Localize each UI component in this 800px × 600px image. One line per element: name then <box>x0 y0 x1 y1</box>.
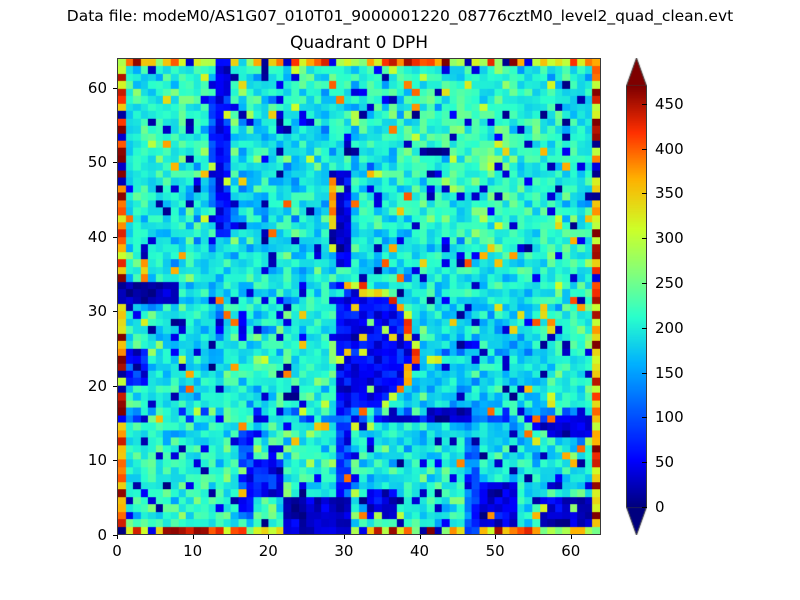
x-tick-label: 10 <box>163 542 223 560</box>
x-tick-mark <box>420 535 421 539</box>
y-tick-mark <box>113 460 117 461</box>
colorbar-over-arrow <box>626 58 647 86</box>
colorbar-tick-label: 100 <box>655 408 684 426</box>
figure-canvas: Data file: modeM0/AS1G07_010T01_90000012… <box>0 0 800 600</box>
y-tick-label: 10 <box>57 451 107 469</box>
colorbar-tick-mark <box>642 193 647 194</box>
x-tick-label: 50 <box>465 542 525 560</box>
y-tick-label: 30 <box>57 302 107 320</box>
colorbar-tick-label: 350 <box>655 184 684 202</box>
y-tick-mark <box>113 386 117 387</box>
colorbar-tick-mark <box>642 104 647 105</box>
colorbar-tick-mark <box>642 328 647 329</box>
y-tick-label: 20 <box>57 377 107 395</box>
colorbar-tick-label: 300 <box>655 229 684 247</box>
colorbar-tick-label: 250 <box>655 274 684 292</box>
y-tick-label: 0 <box>57 526 107 544</box>
y-tick-mark <box>113 311 117 312</box>
colorbar-tick-label: 450 <box>655 95 684 113</box>
y-tick-mark <box>113 88 117 89</box>
colorbar-tick-label: 400 <box>655 140 684 158</box>
x-tick-label: 40 <box>390 542 450 560</box>
x-tick-mark <box>344 535 345 539</box>
colorbar-tick-mark <box>642 417 647 418</box>
colorbar-tick-mark <box>642 238 647 239</box>
y-tick-mark <box>113 535 117 536</box>
colorbar[interactable] <box>626 58 647 535</box>
x-tick-label: 30 <box>314 542 374 560</box>
y-tick-mark <box>113 162 117 163</box>
x-tick-label: 60 <box>541 542 601 560</box>
colorbar-tick-label: 200 <box>655 319 684 337</box>
heatmap-axes[interactable] <box>117 58 601 535</box>
x-tick-mark <box>193 535 194 539</box>
colorbar-tick-mark <box>642 149 647 150</box>
plot-title: Quadrant 0 DPH <box>117 33 601 53</box>
colorbar-tick-label: 0 <box>655 498 665 516</box>
colorbar-tick-mark <box>642 462 647 463</box>
x-tick-label: 20 <box>238 542 298 560</box>
colorbar-tick-mark <box>642 507 647 508</box>
x-tick-mark <box>571 535 572 539</box>
colorbar-under-arrow <box>626 507 647 535</box>
colorbar-tick-label: 50 <box>655 453 674 471</box>
colorbar-tick-mark <box>642 373 647 374</box>
heatmap-image[interactable] <box>118 59 600 534</box>
x-tick-mark <box>495 535 496 539</box>
y-tick-label: 60 <box>57 79 107 97</box>
colorbar-tick-label: 150 <box>655 364 684 382</box>
colorbar-tick-mark <box>642 283 647 284</box>
x-tick-label: 0 <box>87 542 147 560</box>
data-file-suptitle: Data file: modeM0/AS1G07_010T01_90000012… <box>0 7 800 25</box>
x-tick-mark <box>117 535 118 539</box>
y-tick-mark <box>113 237 117 238</box>
y-tick-label: 50 <box>57 153 107 171</box>
y-tick-label: 40 <box>57 228 107 246</box>
x-tick-mark <box>268 535 269 539</box>
